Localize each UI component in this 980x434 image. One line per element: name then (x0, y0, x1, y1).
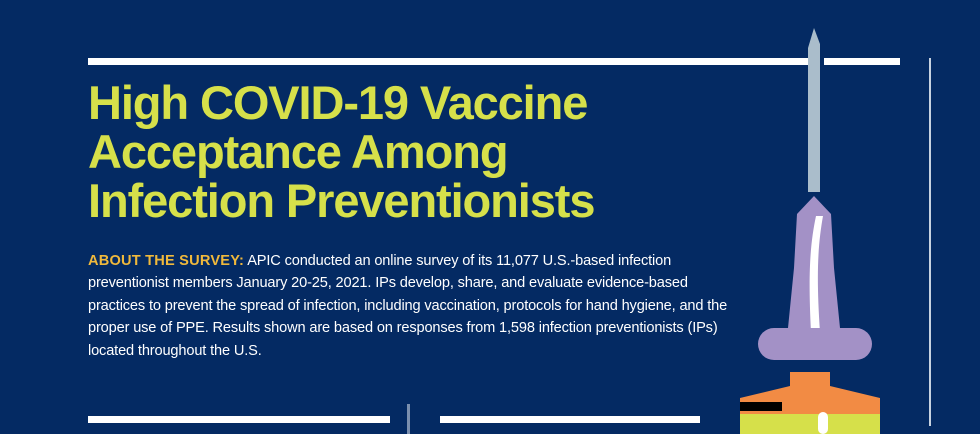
page-title-line-2: Acceptance Among (88, 127, 738, 176)
vial-label-bar (740, 402, 782, 411)
rule-top-left (88, 58, 808, 65)
syringe-illustration (730, 0, 930, 434)
rule-bottom-right (440, 416, 700, 423)
vial-body-highlight (818, 412, 828, 434)
rule-bottom-left (88, 416, 390, 423)
about-survey-paragraph: ABOUT THE SURVEY: APIC conducted an onli… (88, 250, 728, 362)
page-title-line-3: Infection Preventionists (88, 176, 738, 225)
divider-bottom-vertical (407, 404, 410, 434)
page-title: High COVID-19 Vaccine Acceptance Among I… (88, 78, 738, 225)
syringe-flange (758, 328, 872, 360)
vial-body (740, 414, 880, 434)
about-survey-label: ABOUT THE SURVEY: (88, 253, 244, 269)
page-title-line-1: High COVID-19 Vaccine (88, 78, 738, 127)
infographic-canvas: High COVID-19 Vaccine Acceptance Among I… (0, 0, 980, 434)
syringe-needle-icon (808, 28, 820, 192)
